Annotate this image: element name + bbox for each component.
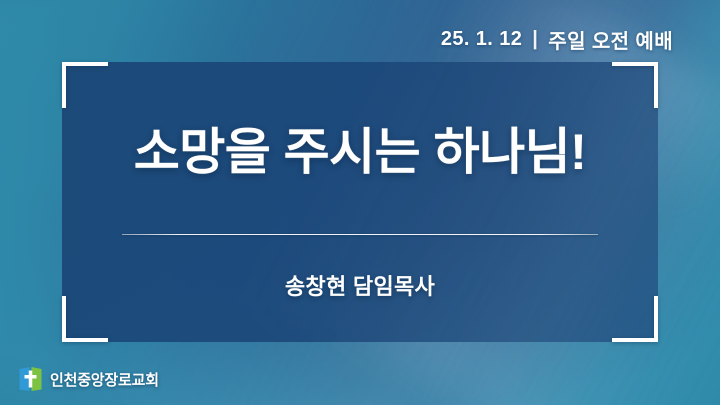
church-logo: 인천중앙장로교회 [18, 366, 159, 393]
service-date: 25. 1. 12 [441, 28, 522, 51]
header-separator: | [531, 28, 539, 51]
church-name: 인천중앙장로교회 [50, 369, 159, 390]
slide-content: 소망을 주시는 하나님! 송창현 담임목사 [62, 62, 658, 342]
service-type: 주일 오전 예배 [548, 25, 673, 54]
worship-title-slide: 25. 1. 12 | 주일 오전 예배 소망을 주시는 하나님! 송창현 담임… [0, 0, 720, 405]
speaker-name: 송창현 담임목사 [285, 269, 435, 301]
sermon-title: 소망을 주시는 하나님! [134, 125, 586, 179]
service-header: 25. 1. 12 | 주일 오전 예배 [441, 25, 673, 54]
title-divider [122, 234, 598, 235]
open-bible-cross-icon [18, 366, 43, 393]
